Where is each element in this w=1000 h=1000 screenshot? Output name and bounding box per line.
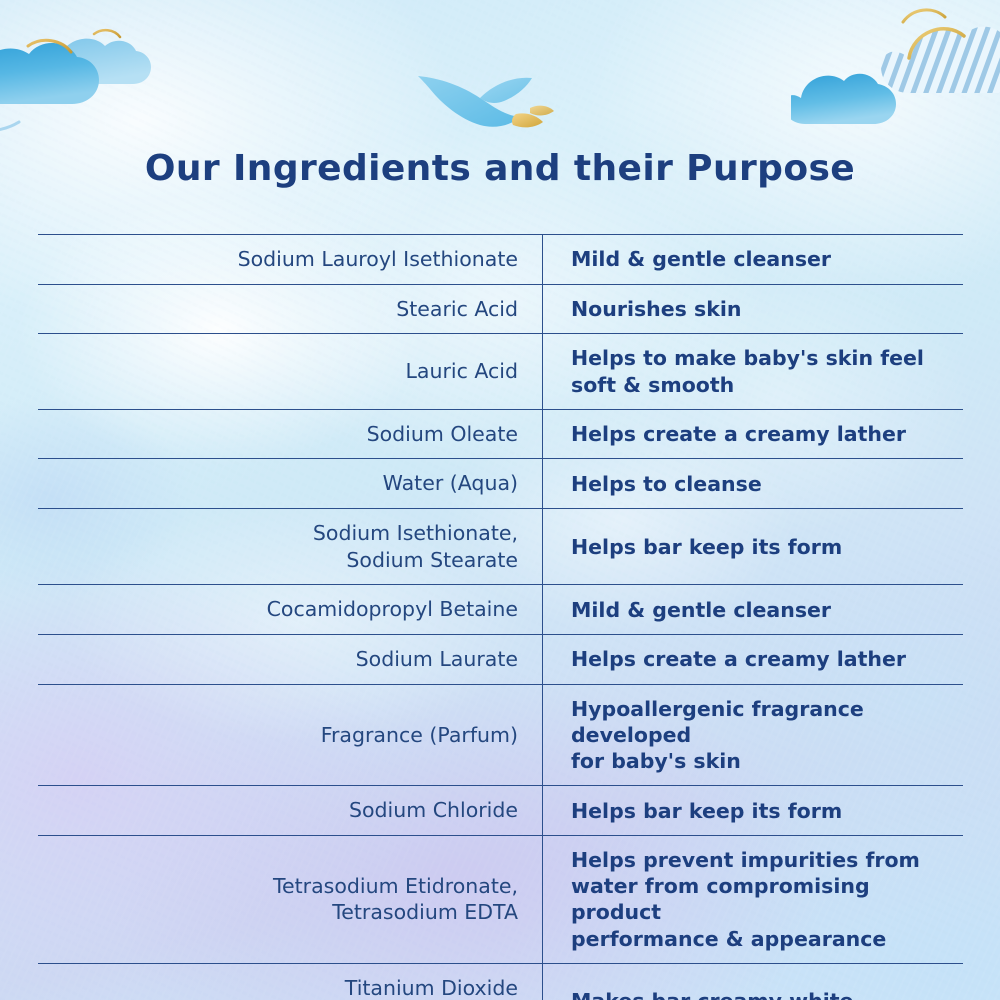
ingredient-name: Sodium Lauroyl Isethionate	[38, 235, 543, 285]
table-row: Sodium Laurate Helps create a creamy lat…	[38, 634, 963, 684]
ingredient-name: Sodium Chloride	[38, 786, 543, 836]
ingredient-purpose: Hypoallergenic fragrance developed for b…	[543, 684, 964, 786]
ingredient-purpose: Mild & gentle cleanser	[543, 585, 964, 635]
ingredients-infographic: Our Ingredients and their Purpose Sodium…	[0, 0, 1000, 1000]
table-row: Stearic Acid Nourishes skin	[38, 284, 963, 334]
ingredient-purpose: Helps to cleanse	[543, 459, 964, 509]
ingredient-name: Stearic Acid	[38, 284, 543, 334]
ingredient-name: Sodium Isethionate, Sodium Stearate	[38, 509, 543, 585]
ingredient-name: Sodium Laurate	[38, 634, 543, 684]
table-row: Sodium Chloride Helps bar keep its form	[38, 786, 963, 836]
ingredient-name: Sodium Oleate	[38, 409, 543, 459]
ingredient-purpose: Mild & gentle cleanser	[543, 235, 964, 285]
table-row: Tetrasodium Etidronate, Tetrasodium EDTA…	[38, 835, 963, 963]
ingredient-purpose: Nourishes skin	[543, 284, 964, 334]
table-row: Sodium Oleate Helps create a creamy lath…	[38, 409, 963, 459]
ingredient-name: Lauric Acid	[38, 334, 543, 409]
ingredient-purpose: Helps bar keep its form	[543, 509, 964, 585]
ingredients-table: Sodium Lauroyl Isethionate Mild & gentle…	[38, 234, 963, 1000]
table-row: Water (Aqua) Helps to cleanse	[38, 459, 963, 509]
ingredient-purpose: Helps create a creamy lather	[543, 409, 964, 459]
ingredient-purpose: Helps prevent impurities from water from…	[543, 835, 964, 963]
ingredient-name: Water (Aqua)	[38, 459, 543, 509]
ingredient-purpose: Makes bar creamy white	[543, 963, 964, 1000]
table-body: Sodium Lauroyl Isethionate Mild & gentle…	[38, 235, 963, 1000]
ingredient-purpose: Helps create a creamy lather	[543, 634, 964, 684]
table-row: Sodium Isethionate, Sodium Stearate Help…	[38, 509, 963, 585]
ingredient-name: Titanium Dioxide (CI 77891)	[38, 963, 543, 1000]
page-title: Our Ingredients and their Purpose	[0, 148, 1000, 189]
table-row: Sodium Lauroyl Isethionate Mild & gentle…	[38, 235, 963, 285]
ingredient-purpose: Helps bar keep its form	[543, 786, 964, 836]
table-row: Titanium Dioxide (CI 77891) Makes bar cr…	[38, 963, 963, 1000]
table-row: Cocamidopropyl Betaine Mild & gentle cle…	[38, 585, 963, 635]
ingredient-name: Fragrance (Parfum)	[38, 684, 543, 786]
table-row: Lauric Acid Helps to make baby's skin fe…	[38, 334, 963, 409]
ingredient-purpose: Helps to make baby's skin feel soft & sm…	[543, 334, 964, 409]
ingredient-name: Cocamidopropyl Betaine	[38, 585, 543, 635]
table-row: Fragrance (Parfum) Hypoallergenic fragra…	[38, 684, 963, 786]
ingredient-name: Tetrasodium Etidronate, Tetrasodium EDTA	[38, 835, 543, 963]
